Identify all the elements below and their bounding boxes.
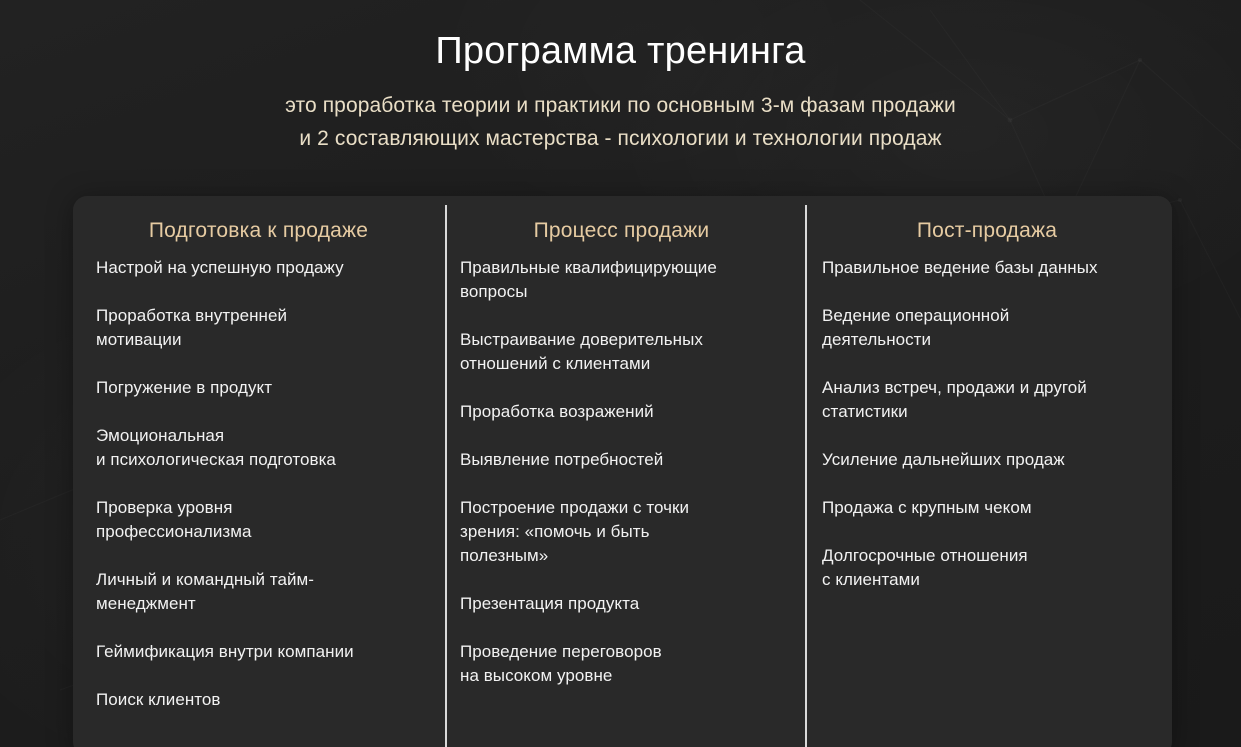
list-item-line: Геймификация внутри компании	[96, 640, 427, 664]
list-item-line: Настрой на успешную продажу	[96, 256, 427, 280]
list-item: Проработка внутреннеймотивации	[96, 304, 427, 352]
list-item: Анализ встреч, продажи и другойстатистик…	[822, 376, 1154, 424]
list-item-line: Проведение переговоров	[460, 640, 785, 664]
list-item: Правильные квалифицирующиевопросы	[460, 256, 785, 304]
column-header-preparation: Подготовка к продаже	[96, 217, 427, 245]
list-item: Продажа с крупным чеком	[822, 496, 1154, 520]
list-item-line: менеджмент	[96, 592, 427, 616]
list-item-line: вопросы	[460, 280, 785, 304]
list-item: Долгосрочные отношенияс клиентами	[822, 544, 1154, 592]
list-item-line: Анализ встреч, продажи и другой	[822, 376, 1154, 400]
page-subtitle-line-2: и 2 составляющих мастерства - психологии…	[0, 122, 1241, 155]
list-item-line: Правильное ведение базы данных	[822, 256, 1154, 280]
list-item-line: Личный и командный тайм-	[96, 568, 427, 592]
list-item: Геймификация внутри компании	[96, 640, 427, 664]
list-item-line: Правильные квалифицирующие	[460, 256, 785, 280]
list-item-line: Ведение операционной	[822, 304, 1154, 328]
list-item-line: Выявление потребностей	[460, 448, 785, 472]
list-item: Настрой на успешную продажу	[96, 256, 427, 280]
column-list-post-sale: Правильное ведение базы данных Ведение о…	[822, 256, 1154, 592]
column-list-sales-process: Правильные квалифицирующиевопросы Выстра…	[460, 256, 785, 688]
list-item: Выстраивание доверительныхотношений с кл…	[460, 328, 785, 376]
column-sales-process: Процесс продажи Правильные квалифицирующ…	[445, 196, 805, 747]
column-post-sale: Пост-продажа Правильное ведение базы дан…	[805, 196, 1172, 747]
list-item: Проведение переговоровна высоком уровне	[460, 640, 785, 688]
list-item: Эмоциональнаяи психологическая подготовк…	[96, 424, 427, 472]
list-item-line: деятельности	[822, 328, 1154, 352]
list-item-line: зрения: «помочь и быть	[460, 520, 785, 544]
list-item-line: Проработка возражений	[460, 400, 785, 424]
list-item-line: Усиление дальнейших продаж	[822, 448, 1154, 472]
column-preparation: Подготовка к продаже Настрой на успешную…	[73, 196, 445, 747]
list-item-line: Эмоциональная	[96, 424, 427, 448]
list-item-line: на высоком уровне	[460, 664, 785, 688]
list-item-line: Поиск клиентов	[96, 688, 427, 712]
list-item-line: Погружение в продукт	[96, 376, 427, 400]
list-item: Поиск клиентов	[96, 688, 427, 712]
list-item: Ведение операционнойдеятельности	[822, 304, 1154, 352]
list-item-line: Проверка уровня	[96, 496, 427, 520]
list-item-line: Презентация продукта	[460, 592, 785, 616]
list-item-line: с клиентами	[822, 568, 1154, 592]
page-subtitle-line-1: это проработка теории и практики по осно…	[0, 89, 1241, 122]
list-item-line: и психологическая подготовка	[96, 448, 427, 472]
slide-header: Программа тренинга это проработка теории…	[0, 0, 1241, 155]
column-list-preparation: Настрой на успешную продажу Проработка в…	[96, 256, 427, 712]
list-item: Проработка возражений	[460, 400, 785, 424]
list-item: Презентация продукта	[460, 592, 785, 616]
column-header-post-sale: Пост-продажа	[822, 217, 1154, 245]
list-item: Проверка уровняпрофессионализма	[96, 496, 427, 544]
list-item: Правильное ведение базы данных	[822, 256, 1154, 280]
list-item-line: Продажа с крупным чеком	[822, 496, 1154, 520]
list-item-line: мотивации	[96, 328, 427, 352]
list-item-line: профессионализма	[96, 520, 427, 544]
program-card: Подготовка к продаже Настрой на успешную…	[73, 196, 1172, 747]
list-item: Усиление дальнейших продаж	[822, 448, 1154, 472]
list-item-line: Построение продажи с точки	[460, 496, 785, 520]
list-item: Выявление потребностей	[460, 448, 785, 472]
list-item: Погружение в продукт	[96, 376, 427, 400]
list-item-line: Долгосрочные отношения	[822, 544, 1154, 568]
page-subtitle: это проработка теории и практики по осно…	[0, 73, 1241, 155]
list-item-line: статистики	[822, 400, 1154, 424]
list-item: Личный и командный тайм-менеджмент	[96, 568, 427, 616]
list-item: Построение продажи с точкизрения: «помоч…	[460, 496, 785, 568]
page-title: Программа тренинга	[0, 0, 1241, 73]
list-item-line: отношений с клиентами	[460, 352, 785, 376]
list-item-line: полезным»	[460, 544, 785, 568]
list-item-line: Выстраивание доверительных	[460, 328, 785, 352]
list-item-line: Проработка внутренней	[96, 304, 427, 328]
slide-root: Программа тренинга это проработка теории…	[0, 0, 1241, 747]
column-header-sales-process: Процесс продажи	[460, 217, 785, 245]
